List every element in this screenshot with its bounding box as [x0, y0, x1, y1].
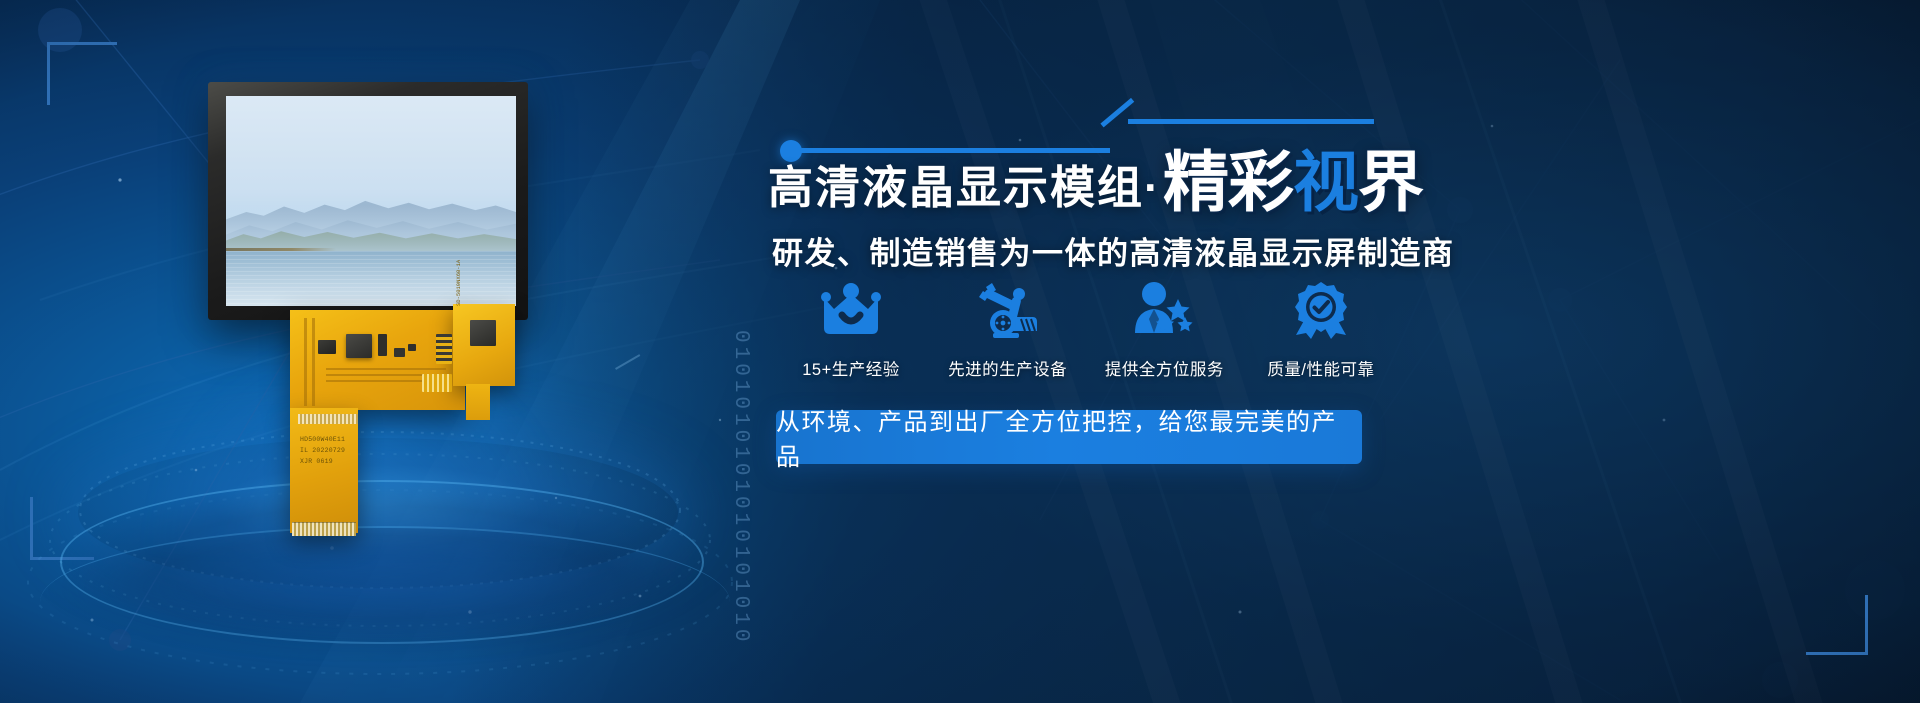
vignette-overlay: [0, 0, 1920, 703]
hero-banner: 0101010101010101010: [0, 0, 1920, 703]
